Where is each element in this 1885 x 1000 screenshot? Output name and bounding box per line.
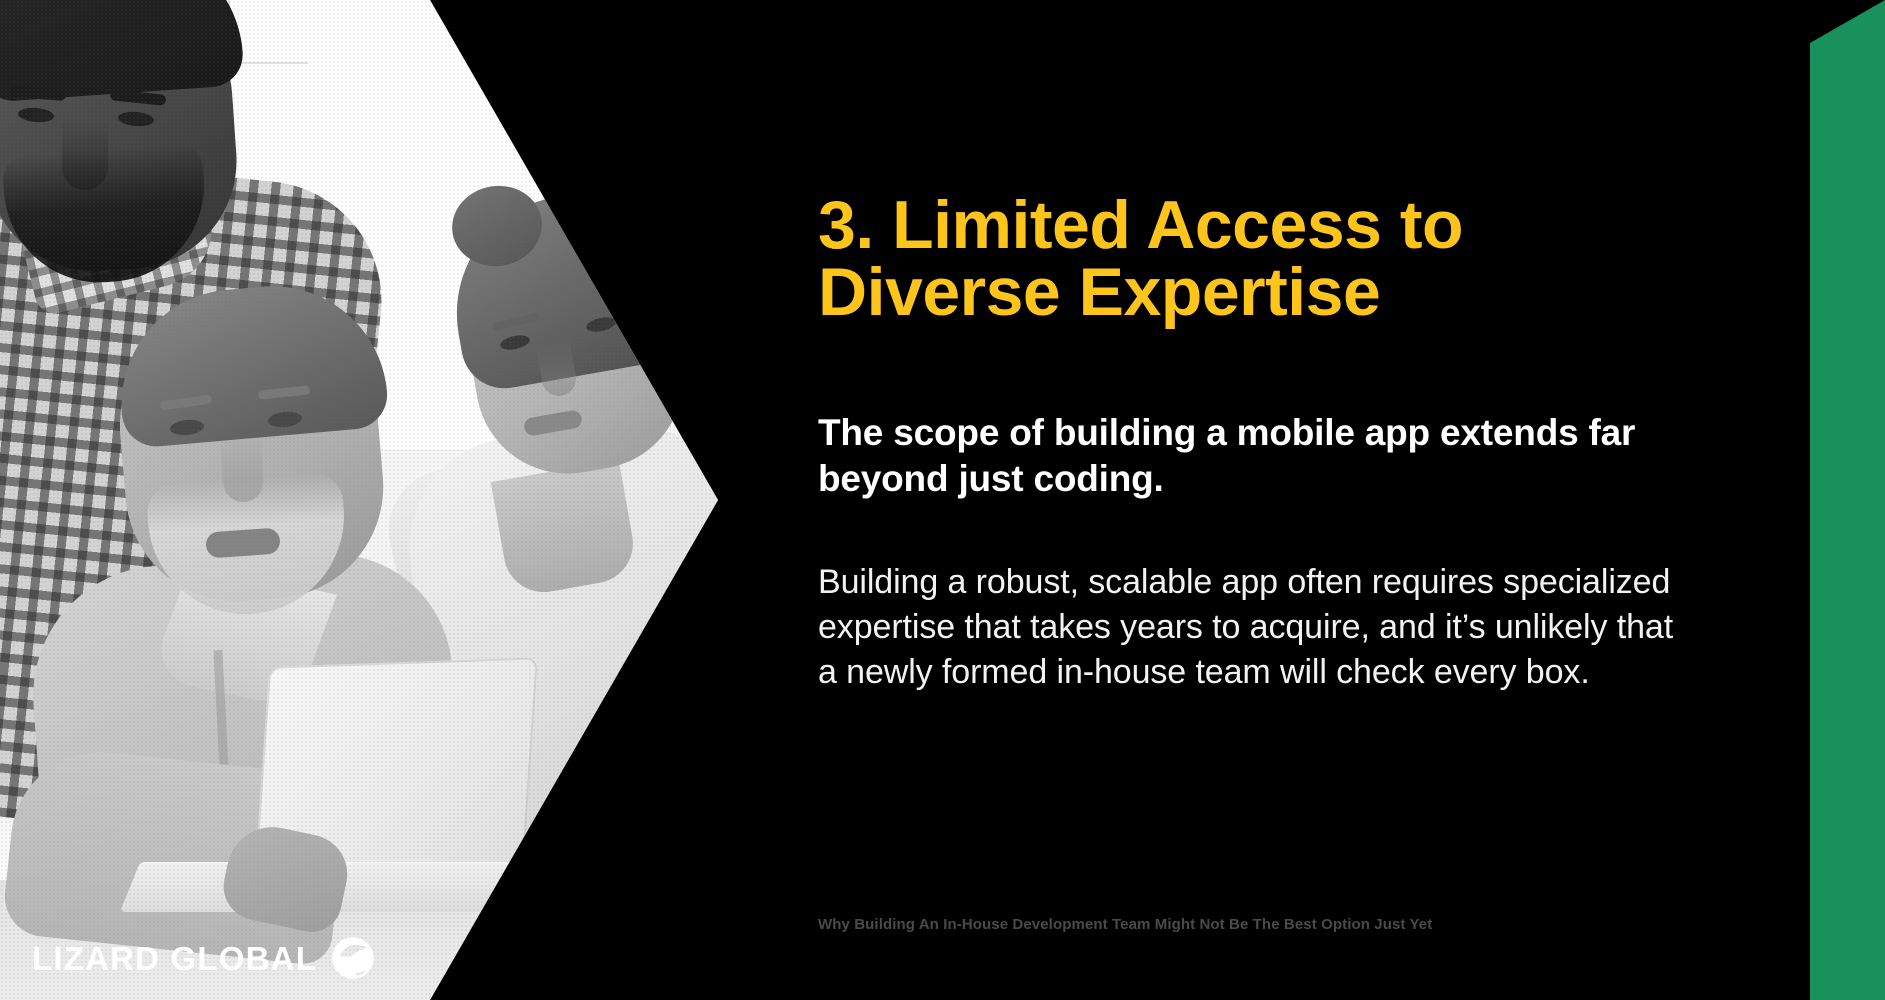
page-title: 3. Limited Access to Diverse Expertise <box>818 192 1698 327</box>
person-standing-nose <box>62 120 108 190</box>
person-seated-mouth <box>205 527 281 558</box>
footer-caption: Why Building An In-House Development Tea… <box>818 916 1698 933</box>
hero-photo: ∿ ∿ ⊢ <box>0 0 720 1000</box>
photo-scene: ∿ ∿ ⊢ <box>0 0 720 1000</box>
green-accent-bar <box>1770 0 1885 1000</box>
content-column: 3. Limited Access to Diverse Expertise T… <box>818 0 1718 1000</box>
lizard-circle-emblem-icon <box>331 936 375 980</box>
logo-wordmark: LIZARD GLOBAL <box>32 942 317 975</box>
slide-canvas: ∿ ∿ ⊢ <box>0 0 1885 1000</box>
subtitle: The scope of building a mobile app exten… <box>818 410 1658 501</box>
body-paragraph: Building a robust, scalable app often re… <box>818 560 1688 696</box>
brand-logo: LIZARD GLOBAL <box>32 936 375 980</box>
